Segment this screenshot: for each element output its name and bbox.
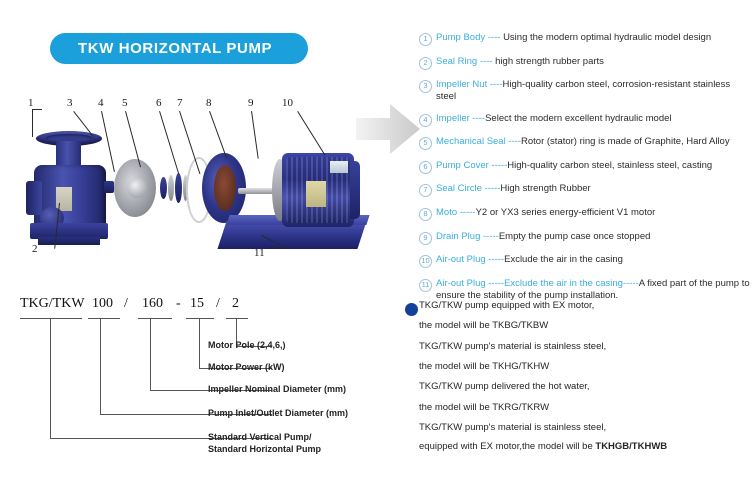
legend-separator: ----- — [480, 231, 498, 242]
legend-part-name: Pump Cover — [436, 160, 489, 171]
legend-item: 6 Pump Cover -----High-quality carbon st… — [419, 160, 751, 174]
legend-part-name: Seal Ring — [436, 56, 477, 67]
code-label-standard-vertical: Standard Vertical Pump/ — [208, 432, 312, 442]
legend-separator: ---- — [506, 136, 521, 147]
callout-number-9: 9 — [248, 97, 254, 109]
legend-description: High-quality carbon steel, stainless ste… — [507, 160, 712, 171]
impeller-hub — [127, 178, 147, 198]
code-segment-power: 15 — [190, 296, 204, 312]
callout-leader-8 — [209, 111, 227, 158]
exploded-pump-diagram: 1 3 4 5 6 7 8 9 10 2 11 — [14, 95, 364, 285]
legend-description: A fixed part of the pump to — [639, 278, 750, 289]
legend-number-icon: 9 — [419, 232, 432, 245]
seal-ring-3 — [175, 173, 182, 203]
code-label-impeller-diameter: Impeller Nominal Diameter (mm) — [208, 384, 346, 394]
rule-line: the model will be TKRG/TKRW — [419, 402, 751, 414]
legend-number-icon: 4 — [419, 114, 432, 127]
code-label-standard-horizontal: Standard Horizontal Pump — [208, 444, 321, 454]
callout-leader-10 — [297, 111, 325, 156]
rule-line: the model will be TKBG/TKBW — [419, 320, 751, 332]
page-title-banner: TKW HORIZONTAL PUMP — [50, 33, 308, 64]
bullet-dot-icon — [405, 303, 418, 316]
code-label-motor-pole: Motor Pole (2,4,6,) — [208, 340, 286, 350]
legend-item: 7 Seal Circle -----High strength Rubber — [419, 183, 751, 197]
code-slash-2: / — [216, 296, 220, 312]
leader-vline-power — [199, 318, 200, 368]
legend-part-name: Pump Body — [436, 32, 485, 43]
code-underline-prefix — [20, 318, 82, 319]
pump-body-side-port — [26, 181, 42, 215]
legend-item: 10 Air-out Plug -----Exclude the air in … — [419, 254, 751, 268]
legend-number-icon: 1 — [419, 33, 432, 46]
rule-line: the model will be TKHG/TKHW — [419, 361, 751, 373]
code-label-inlet-diameter: Pump Inlet/Outlet Diameter (mm) — [208, 408, 348, 418]
legend-number-icon: 6 — [419, 161, 432, 174]
legend-item: 4 Impeller ----Select the modern excelle… — [419, 113, 751, 127]
legend-item: 5 Mechanical Seal ----Rotor (stator) rin… — [419, 136, 751, 150]
callout-tick-1 — [32, 109, 42, 110]
motor-fan-cover — [350, 161, 360, 219]
rule-line: TKG/TKW pump delivered the hot water, — [419, 381, 751, 393]
rule-last-model: TKHGB/TKHWB — [595, 441, 667, 452]
legend-part-name: Moto — [436, 207, 457, 218]
legend-number-icon: 5 — [419, 137, 432, 150]
pump-cover-bore — [214, 165, 236, 211]
code-label-motor-power: Motor Power (kW) — [208, 362, 285, 372]
leader-vline-impeller — [150, 318, 151, 390]
seal-ring-2 — [168, 175, 174, 201]
legend-item: 8 Moto -----Y2 or YX3 series energy-effi… — [419, 207, 751, 221]
legend-separator: ---- — [477, 56, 495, 67]
legend-part-name: Air-out Plug -----Exclude the air in the… — [436, 278, 639, 289]
legend-description: Y2 or YX3 series energy-efficient V1 mot… — [476, 207, 656, 218]
impeller-nut — [104, 181, 114, 193]
legend-item: 2 Seal Ring ---- high strength rubber pa… — [419, 56, 751, 70]
legend-description: Exclude the air in the casing — [504, 254, 623, 265]
code-segment-pole: 2 — [232, 296, 239, 312]
legend-number-icon: 7 — [419, 184, 432, 197]
legend-item: 3 Impeller Nut ----High-quality carbon s… — [419, 79, 751, 103]
pump-body-base — [38, 237, 100, 245]
callout-number-10: 10 — [282, 97, 293, 109]
code-underline-impeller — [138, 318, 172, 319]
page-title: TKW HORIZONTAL PUMP — [50, 40, 272, 57]
legend-separator: ----- — [482, 183, 500, 194]
callout-number-5: 5 — [122, 97, 128, 109]
callout-leader-4 — [101, 111, 115, 172]
legend-description: Empty the pump case once stopped — [499, 231, 651, 242]
code-segment-prefix: TKG/TKW — [20, 296, 85, 312]
code-slash-1: / — [124, 296, 128, 312]
code-underline-inlet — [88, 318, 120, 319]
legend-description: Select the modern excellent hydraulic mo… — [485, 113, 671, 124]
legend-number-icon: 10 — [419, 255, 432, 268]
rule-line: TKG/TKW pump's material is stainless ste… — [419, 422, 751, 434]
model-naming-rules: TKG/TKW pump equipped with EX motor, the… — [419, 300, 751, 462]
legend-separator: ----- — [489, 160, 507, 171]
code-underline-pole — [226, 318, 248, 319]
callout-number-6: 6 — [156, 97, 162, 109]
spec-sheet-page: TKW HORIZONTAL PUMP — [0, 0, 756, 500]
rule-line: TKG/TKW pump's material is stainless ste… — [419, 341, 751, 353]
callout-leader-9 — [251, 111, 259, 159]
legend-part-name: Mechanical Seal — [436, 136, 506, 147]
callout-number-1: 1 — [28, 97, 34, 109]
legend-number-icon: 3 — [419, 80, 432, 93]
legend-part-name: Air-out Plug — [436, 254, 486, 265]
seal-ring-1 — [160, 177, 167, 199]
callout-number-11: 11 — [254, 247, 265, 259]
legend-number-icon: 2 — [419, 57, 432, 70]
callout-leader-1 — [32, 109, 33, 137]
legend-separator: ---- — [470, 113, 485, 124]
legend-separator: ----- — [486, 254, 504, 265]
motor-terminal-box — [306, 181, 326, 207]
legend-number-icon: 11 — [419, 279, 432, 292]
legend-part-name: Seal Circle — [436, 183, 482, 194]
rule-line: TKG/TKW pump equipped with EX motor, — [419, 300, 751, 312]
callout-number-2: 2 — [32, 243, 38, 255]
legend-description: High strength Rubber — [500, 183, 590, 194]
legend-description: Rotor (stator) ring is made of Graphite,… — [521, 136, 730, 147]
leader-vline-inlet — [100, 318, 101, 414]
legend-part-name: Impeller — [436, 113, 470, 124]
legend-description: high strength rubber parts — [495, 56, 604, 67]
legend-description: Using the modern optimal hydraulic model… — [503, 32, 711, 43]
legend-part-name: Impeller Nut — [436, 79, 487, 90]
legend-item: 1 Pump Body ---- Using the modern optima… — [419, 32, 751, 46]
code-underline-power — [186, 318, 214, 319]
legend-separator: ---- — [487, 79, 502, 90]
legend-separator: ---- — [485, 32, 503, 43]
callout-number-7: 7 — [177, 97, 183, 109]
code-segment-impeller: 160 — [142, 296, 163, 312]
rule-last-prefix: equipped with EX motor,the model will be — [419, 441, 595, 452]
callout-number-8: 8 — [206, 97, 212, 109]
model-designation-chart: TKG/TKW 100 / 160 - 15 / 2 Motor Pole (2… — [14, 296, 364, 496]
code-segment-inlet: 100 — [92, 296, 113, 312]
legend-part-name: Drain Plug — [436, 231, 480, 242]
callout-leader-6 — [159, 111, 179, 174]
callout-number-4: 4 — [98, 97, 104, 109]
callout-number-3: 3 — [67, 97, 73, 109]
legend-separator: ----- — [457, 207, 475, 218]
right-arrow-icon — [356, 100, 422, 158]
legend-number-icon: 8 — [419, 208, 432, 221]
code-dash: - — [176, 296, 181, 312]
legend-item: 11 Air-out Plug -----Exclude the air in … — [419, 278, 751, 302]
legend-item: 9 Drain Plug -----Empty the pump case on… — [419, 231, 751, 245]
parts-legend: 1 Pump Body ---- Using the modern optima… — [419, 32, 751, 311]
motor-nameplate — [330, 161, 348, 173]
rule-line-last: equipped with EX motor,the model will be… — [419, 441, 751, 453]
leader-vline-standard — [50, 318, 51, 438]
